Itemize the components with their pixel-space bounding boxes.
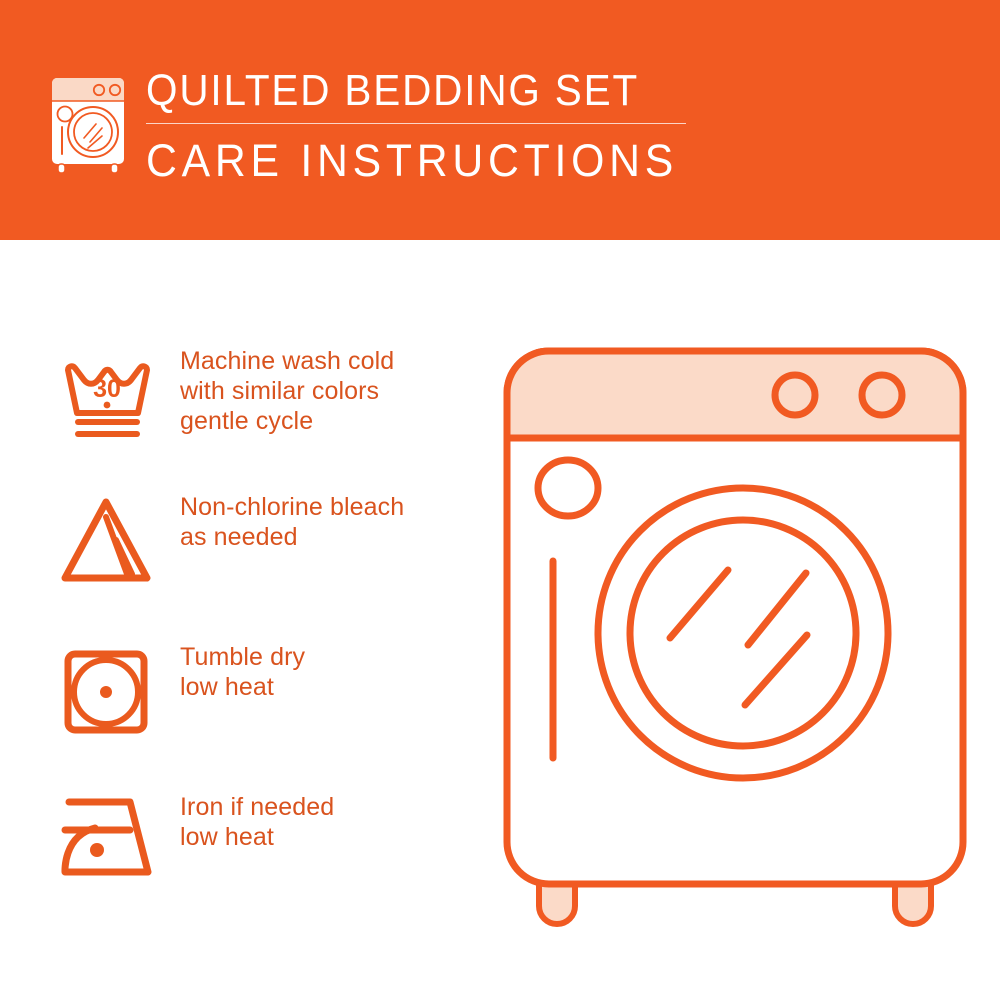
knob-right-icon — [862, 375, 902, 415]
care-line: Machine wash cold — [180, 346, 394, 376]
care-text-machine-wash: Machine wash cold with similar colors ge… — [180, 344, 394, 436]
bleach-triangle-icon — [46, 490, 166, 590]
header-title-block: QUILTED BEDDING SET CARE INSTRUCTIONS — [146, 66, 766, 187]
care-line: with similar colors — [180, 376, 394, 406]
page-title: QUILTED BEDDING SET — [146, 66, 716, 116]
door-inner-ring — [630, 520, 856, 746]
page-subtitle: CARE INSTRUCTIONS — [146, 135, 735, 187]
care-text-tumble-dry: Tumble dry low heat — [180, 640, 305, 702]
wash-temperature-label: 30 — [93, 375, 121, 403]
care-line: gentle cycle — [180, 406, 394, 436]
washing-machine-logo-icon — [42, 72, 138, 176]
care-row-machine-wash: 30 Machine wash cold with similar colors… — [46, 344, 476, 448]
care-row-iron: Iron if needed low heat — [46, 790, 476, 886]
care-text-iron: Iron if needed low heat — [180, 790, 334, 852]
care-instruction-list: 30 Machine wash cold with similar colors… — [0, 240, 500, 1000]
care-text-bleach: Non-chlorine bleach as needed — [180, 490, 404, 552]
care-line: low heat — [180, 822, 334, 852]
care-instructions-page: QUILTED BEDDING SET CARE INSTRUCTIONS 30 — [0, 0, 1000, 1000]
care-line: low heat — [180, 672, 305, 702]
care-line: Iron if needed — [180, 792, 334, 822]
iron-icon — [46, 790, 166, 886]
header-banner: QUILTED BEDDING SET CARE INSTRUCTIONS — [0, 0, 1000, 240]
care-row-tumble-dry: Tumble dry low heat — [46, 640, 476, 744]
tumble-dry-icon — [46, 640, 166, 744]
knob-left-icon — [775, 375, 815, 415]
title-divider — [146, 123, 686, 124]
care-line: Tumble dry — [180, 642, 305, 672]
care-row-bleach: Non-chlorine bleach as needed — [46, 490, 476, 590]
care-line: Non-chlorine bleach — [180, 492, 404, 522]
wash-tub-30-icon: 30 — [46, 344, 166, 448]
dispenser-icon — [538, 460, 598, 516]
care-line: as needed — [180, 522, 404, 552]
washing-machine-illustration — [495, 333, 975, 933]
